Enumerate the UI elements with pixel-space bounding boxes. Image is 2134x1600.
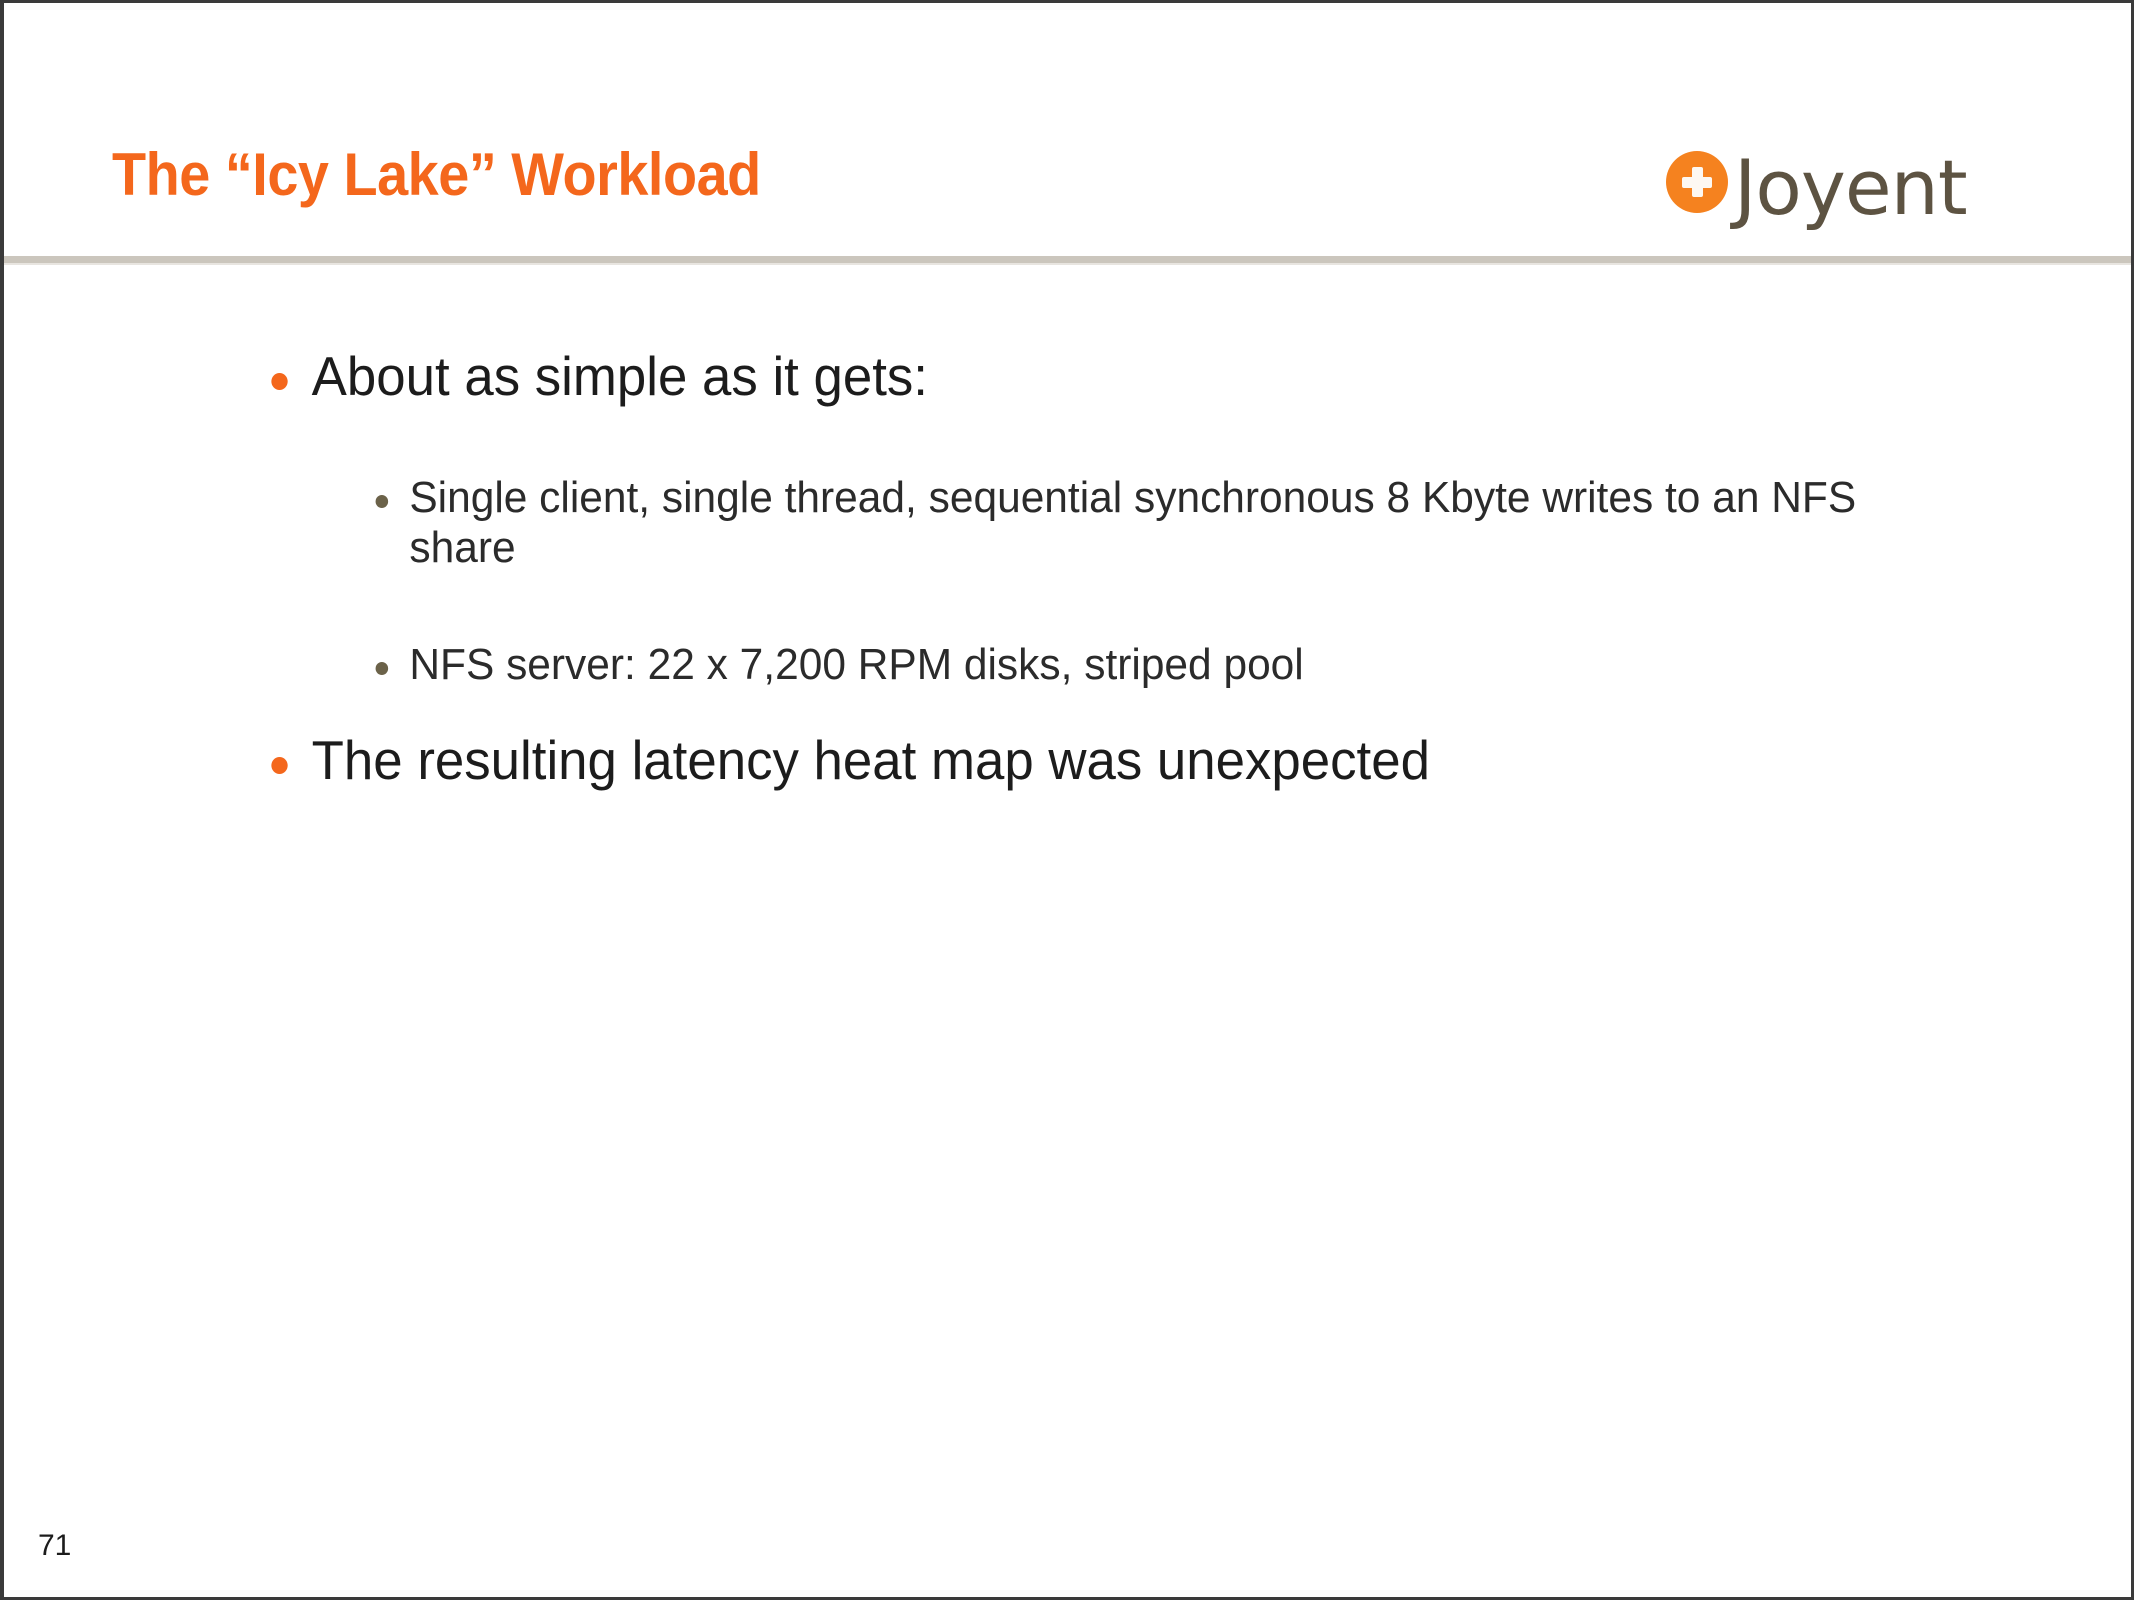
bullet-level2: Single client, single thread, sequential… <box>364 473 1869 573</box>
plus-in-circle-icon <box>1666 151 1728 213</box>
bullet-dot-icon <box>271 373 287 390</box>
sub-bullet-dot-icon <box>376 662 389 675</box>
bullet-level2-text: NFS server: 22 x 7,200 RPM disks, stripe… <box>409 640 1303 689</box>
sub-bullet-dot-icon <box>376 495 389 508</box>
bullet-dot-icon <box>271 757 287 774</box>
page-title: The “Icy Lake” Workload <box>112 143 761 206</box>
slide-body: About as simple as it gets: Single clien… <box>4 259 2131 1597</box>
bullet-level2-text: Single client, single thread, sequential… <box>409 473 1856 572</box>
slide: The “Icy Lake” Workload Joyent About as … <box>0 0 2134 1600</box>
sub-bullet-group: Single client, single thread, sequential… <box>364 473 1924 690</box>
bullet-group-1: About as simple as it gets: <box>256 347 1856 406</box>
bullet-level1: The resulting latency heat map was unexp… <box>256 731 1888 790</box>
bullet-group-2: The resulting latency heat map was unexp… <box>256 731 1956 790</box>
bullet-level1-text: The resulting latency heat map was unexp… <box>312 729 1430 791</box>
logo-wordmark: Joyent <box>1734 150 1967 226</box>
slide-header: The “Icy Lake” Workload Joyent <box>4 3 2131 259</box>
joyent-logo: Joyent <box>1666 136 1967 228</box>
page-number: 71 <box>38 1531 71 1561</box>
bullet-level1-text: About as simple as it gets: <box>312 345 928 407</box>
bullet-level2: NFS server: 22 x 7,200 RPM disks, stripe… <box>364 640 1869 690</box>
bullet-level1: About as simple as it gets: <box>256 347 1792 406</box>
